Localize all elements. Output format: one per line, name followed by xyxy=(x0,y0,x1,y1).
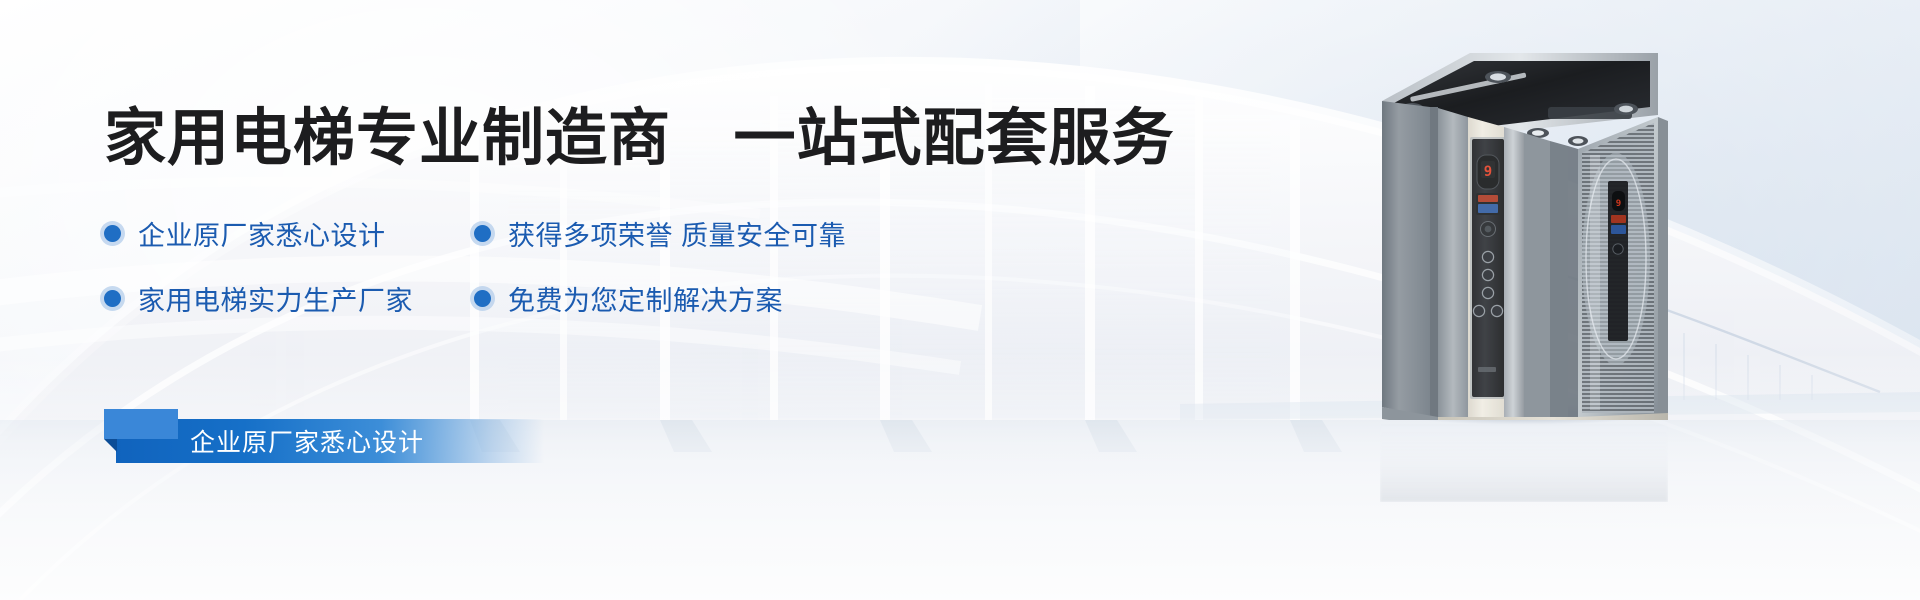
bullet-dot-icon xyxy=(474,290,491,307)
promo-banner: 9 xyxy=(0,0,1920,600)
elevator-floor-reflection xyxy=(1380,412,1668,502)
feature-bullet-list: 企业原厂家悉心设计 获得多项荣誉 质量安全可靠 家用电梯实力生产厂家 免费为您定… xyxy=(104,214,904,318)
svg-text:9: 9 xyxy=(1616,199,1621,209)
bullet-label: 企业原厂家悉心设计 xyxy=(138,214,386,253)
bullet-dot-icon xyxy=(104,225,121,242)
ribbon-bar: 企业原厂家悉心设计 xyxy=(116,419,544,463)
bullet-dot-icon xyxy=(104,290,121,307)
list-item: 企业原厂家悉心设计 xyxy=(104,214,474,253)
elevator-product-image: 9 xyxy=(1372,45,1672,420)
page-title: 家用电梯专业制造商 一站式配套服务 xyxy=(104,108,1100,170)
bullet-label: 家用电梯实力生产厂家 xyxy=(138,279,413,318)
ribbon-tag[interactable]: 企业原厂家悉心设计 xyxy=(104,419,544,463)
headline-part-1: 家用电梯专业制造商 xyxy=(104,104,671,173)
ribbon-folded-tab xyxy=(104,409,178,439)
list-item: 家用电梯实力生产厂家 xyxy=(104,279,474,318)
elevator-cabin-illustration: 9 xyxy=(1372,45,1672,420)
list-item: 获得多项荣誉 质量安全可靠 xyxy=(474,214,844,253)
bullet-label: 免费为您定制解决方案 xyxy=(508,279,783,318)
list-item: 免费为您定制解决方案 xyxy=(474,279,844,318)
headline-part-2: 一站式配套服务 xyxy=(733,104,1174,173)
bullet-dot-icon xyxy=(474,225,491,242)
ribbon-fold-notch xyxy=(104,439,117,452)
bullet-label: 获得多项荣誉 质量安全可靠 xyxy=(508,214,846,253)
banner-content: 家用电梯专业制造商 一站式配套服务 企业原厂家悉心设计 获得多项荣誉 质量安全可… xyxy=(0,0,1100,600)
